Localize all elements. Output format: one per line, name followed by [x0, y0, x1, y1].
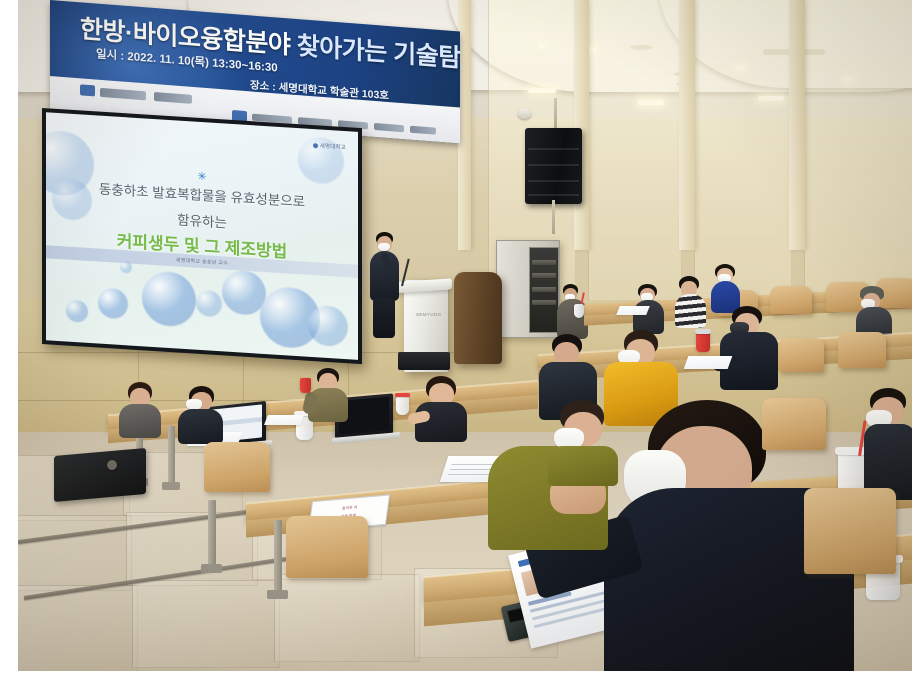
handout-paper	[684, 356, 733, 369]
sponsor-logo	[154, 92, 192, 104]
audience-member-glasses-mask	[548, 400, 620, 486]
slide-star-icon: ✳	[197, 172, 206, 184]
chair-front-left	[204, 442, 270, 492]
drink-cup	[574, 304, 584, 318]
slide-bubble	[308, 305, 348, 348]
screenshot-root: 한방·바이오융합분야 찾아가는 기술탐색단 일시 : 2022. 11. 10(…	[0, 0, 920, 679]
slide-logo-mark	[313, 143, 318, 148]
desk-leg	[168, 426, 175, 484]
torso	[178, 409, 223, 444]
rack-unit	[532, 300, 556, 305]
audience-member-striped	[673, 276, 709, 328]
desk-leg	[208, 500, 216, 566]
sponsor-logo	[100, 88, 146, 101]
wall-pillar-3	[789, 0, 805, 250]
torso-mustard	[548, 446, 618, 486]
wall-pillar-1	[574, 0, 589, 250]
audience-member-blue-rear	[708, 264, 744, 312]
audience-member-bob-hair	[414, 376, 468, 442]
equipment-case	[54, 448, 146, 502]
chair-right-foreground	[804, 488, 896, 574]
hot-drink-cup	[696, 332, 710, 352]
sponsor-chip	[80, 84, 95, 96]
projection-screen: 세명대학교 ✳ 동충하초 발효복합물을 유효성분으로 함유하는 커피생두 및 그…	[46, 112, 358, 360]
floor-tile	[132, 580, 280, 668]
cup-lid	[695, 329, 711, 334]
speaker-rib	[528, 148, 578, 150]
presenter	[366, 232, 406, 338]
handout-paper	[264, 415, 304, 425]
rack-unit	[532, 260, 556, 265]
slide-bubble	[196, 290, 222, 318]
audience-member-suit-center	[718, 306, 780, 390]
desk-leg	[274, 520, 282, 592]
sponsor-logo	[410, 126, 436, 135]
speaker-mount-pole	[554, 98, 557, 132]
equipment-rack	[496, 240, 560, 338]
handout-paper	[616, 306, 650, 315]
slide-bubble	[98, 288, 128, 320]
rack-unit	[532, 273, 556, 278]
desk-leg-foot	[201, 564, 222, 573]
presiding-chair	[454, 272, 502, 364]
security-camera-icon	[518, 108, 531, 119]
banner-title-accent: 찾아가는 기술탐색단	[297, 32, 460, 76]
podium-base	[398, 352, 450, 370]
chair-middle	[778, 338, 824, 372]
drink-cup	[396, 396, 409, 415]
sponsor-logo	[374, 123, 404, 132]
floor-tile	[274, 574, 420, 662]
torso-striped	[675, 294, 706, 328]
podium-brand-label: SEMYUNG	[416, 312, 442, 317]
cup-lid	[395, 393, 410, 397]
speaker-rib	[528, 194, 578, 196]
chair-front-left-2	[286, 516, 368, 578]
audience-member-left-2	[178, 386, 224, 444]
seminar-photograph: 한방·바이오융합분야 찾아가는 기술탐색단 일시 : 2022. 11. 10(…	[18, 0, 912, 671]
line-array-speaker	[525, 128, 582, 204]
desk-leg-foot	[162, 482, 180, 490]
slide-bubble	[142, 270, 196, 327]
chair-right-rear	[762, 398, 826, 450]
slide-bubble	[222, 269, 266, 316]
wall-pillar-2	[679, 0, 695, 250]
hot-drink-cup-held	[300, 378, 311, 393]
audience-member-left-1	[118, 382, 162, 438]
speaker-rib	[528, 164, 578, 166]
audience-member-right-foreground	[864, 388, 912, 500]
presenter-mask	[378, 243, 390, 251]
rack-door-open	[529, 247, 558, 333]
speaker-stand	[552, 200, 555, 234]
desk-leg-foot	[267, 590, 288, 599]
slide-bubble	[66, 300, 88, 323]
torso	[119, 404, 161, 438]
case-latch-icon	[107, 460, 117, 470]
speaker-rib	[528, 180, 578, 182]
projection-screen-frame: 세명대학교 ✳ 동충하초 발효복합물을 유효성분으로 함유하는 커피생두 및 그…	[42, 108, 362, 364]
chair-middle	[838, 332, 886, 368]
audience-member-olive-coat	[306, 368, 350, 422]
presenter-trousers	[373, 298, 395, 338]
rack-unit	[532, 287, 556, 292]
